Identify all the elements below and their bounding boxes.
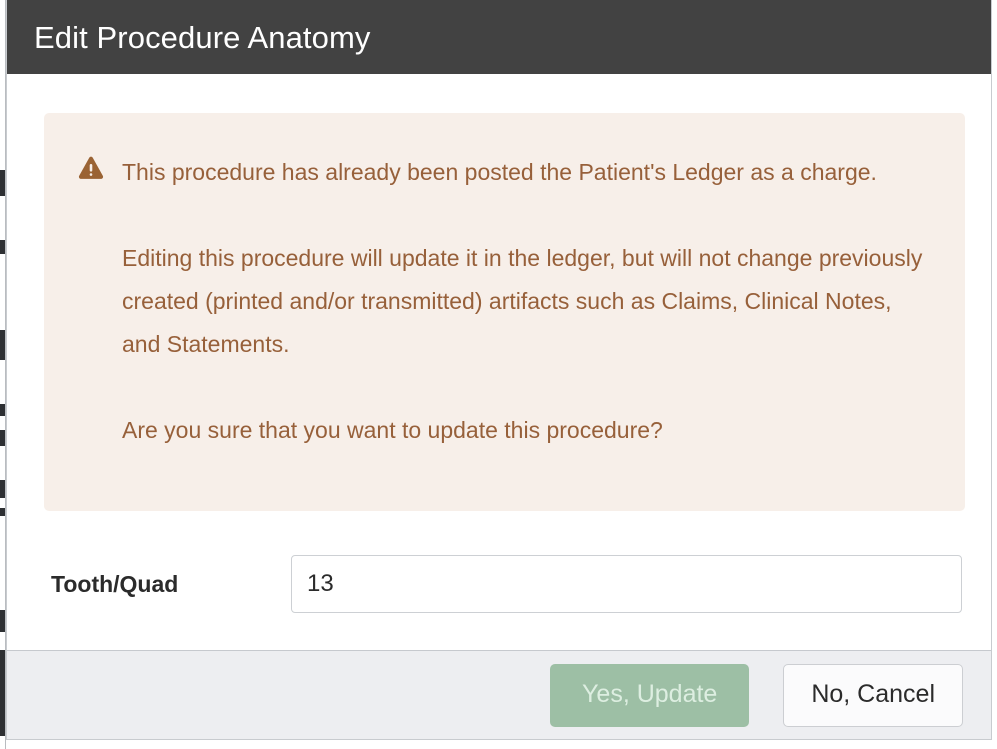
edit-procedure-anatomy-dialog: Edit Procedure Anatomy This procedure ha… xyxy=(6,0,992,740)
tooth-quad-row: Tooth/Quad xyxy=(44,555,962,613)
yes-update-button[interactable]: Yes, Update xyxy=(550,664,749,727)
alert-paragraph-3: Are you sure that you want to update thi… xyxy=(122,409,931,452)
no-cancel-button[interactable]: No, Cancel xyxy=(783,664,963,727)
dialog-header: Edit Procedure Anatomy xyxy=(7,0,991,74)
tooth-quad-input[interactable] xyxy=(291,555,962,613)
warning-triangle-icon xyxy=(78,156,104,180)
warning-alert-text: This procedure has already been posted t… xyxy=(122,151,931,452)
dialog-body: This procedure has already been posted t… xyxy=(7,74,991,650)
dialog-footer: Yes, Update No, Cancel xyxy=(7,650,991,739)
alert-paragraph-2: Editing this procedure will update it in… xyxy=(122,237,931,366)
page-title: Edit Procedure Anatomy xyxy=(34,22,371,53)
alert-paragraph-1: This procedure has already been posted t… xyxy=(122,151,931,194)
warning-alert: This procedure has already been posted t… xyxy=(44,113,965,511)
tooth-quad-label: Tooth/Quad xyxy=(44,571,291,598)
